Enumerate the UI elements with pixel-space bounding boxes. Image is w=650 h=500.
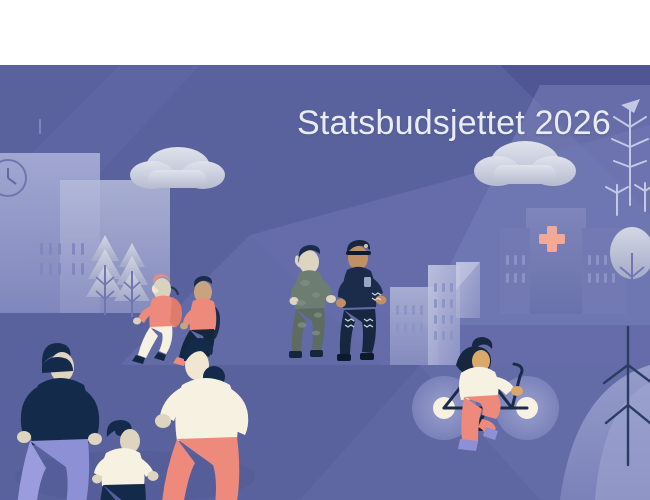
top-white-band	[0, 0, 650, 65]
hero-illustration: Statsbudsjettet 2026	[0, 65, 650, 500]
hero-illustration-svg	[0, 65, 650, 500]
page-root: Statsbudsjettet 2026	[0, 0, 650, 500]
